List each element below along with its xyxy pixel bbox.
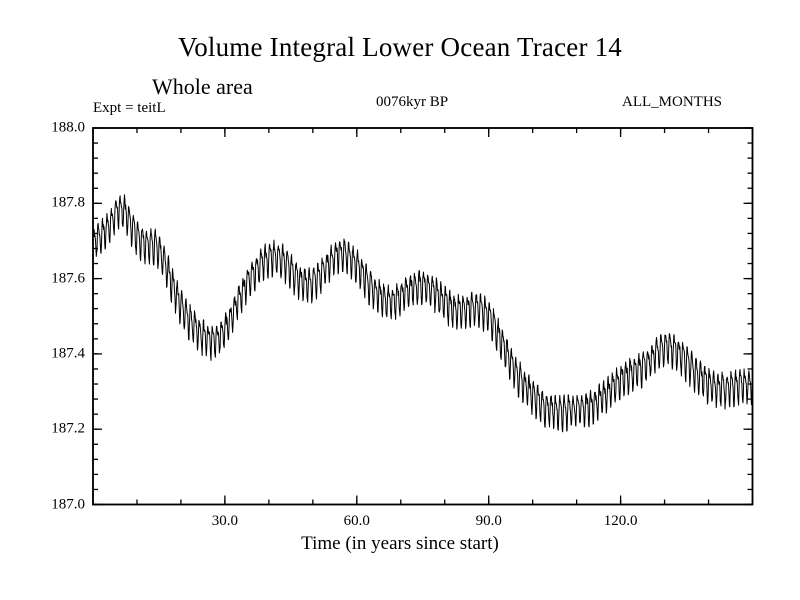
chart-page: Volume Integral Lower Ocean Tracer 14 Wh… bbox=[0, 0, 800, 600]
x-tick-label: 30.0 bbox=[190, 513, 260, 530]
y-tick-label: 187.6 bbox=[25, 270, 85, 287]
time-series-plot bbox=[0, 0, 800, 600]
x-tick-label: 120.0 bbox=[586, 513, 656, 530]
y-tick-label: 187.4 bbox=[25, 345, 85, 362]
x-tick-label: 90.0 bbox=[454, 513, 524, 530]
y-tick-label: 187.0 bbox=[25, 496, 85, 513]
x-tick-label: 60.0 bbox=[322, 513, 392, 530]
y-tick-label: 188.0 bbox=[25, 120, 85, 137]
y-tick-label: 187.8 bbox=[25, 195, 85, 212]
plot-area: 187.0187.2187.4187.6187.8188.0 30.060.09… bbox=[0, 0, 800, 600]
y-tick-label: 187.2 bbox=[25, 421, 85, 438]
